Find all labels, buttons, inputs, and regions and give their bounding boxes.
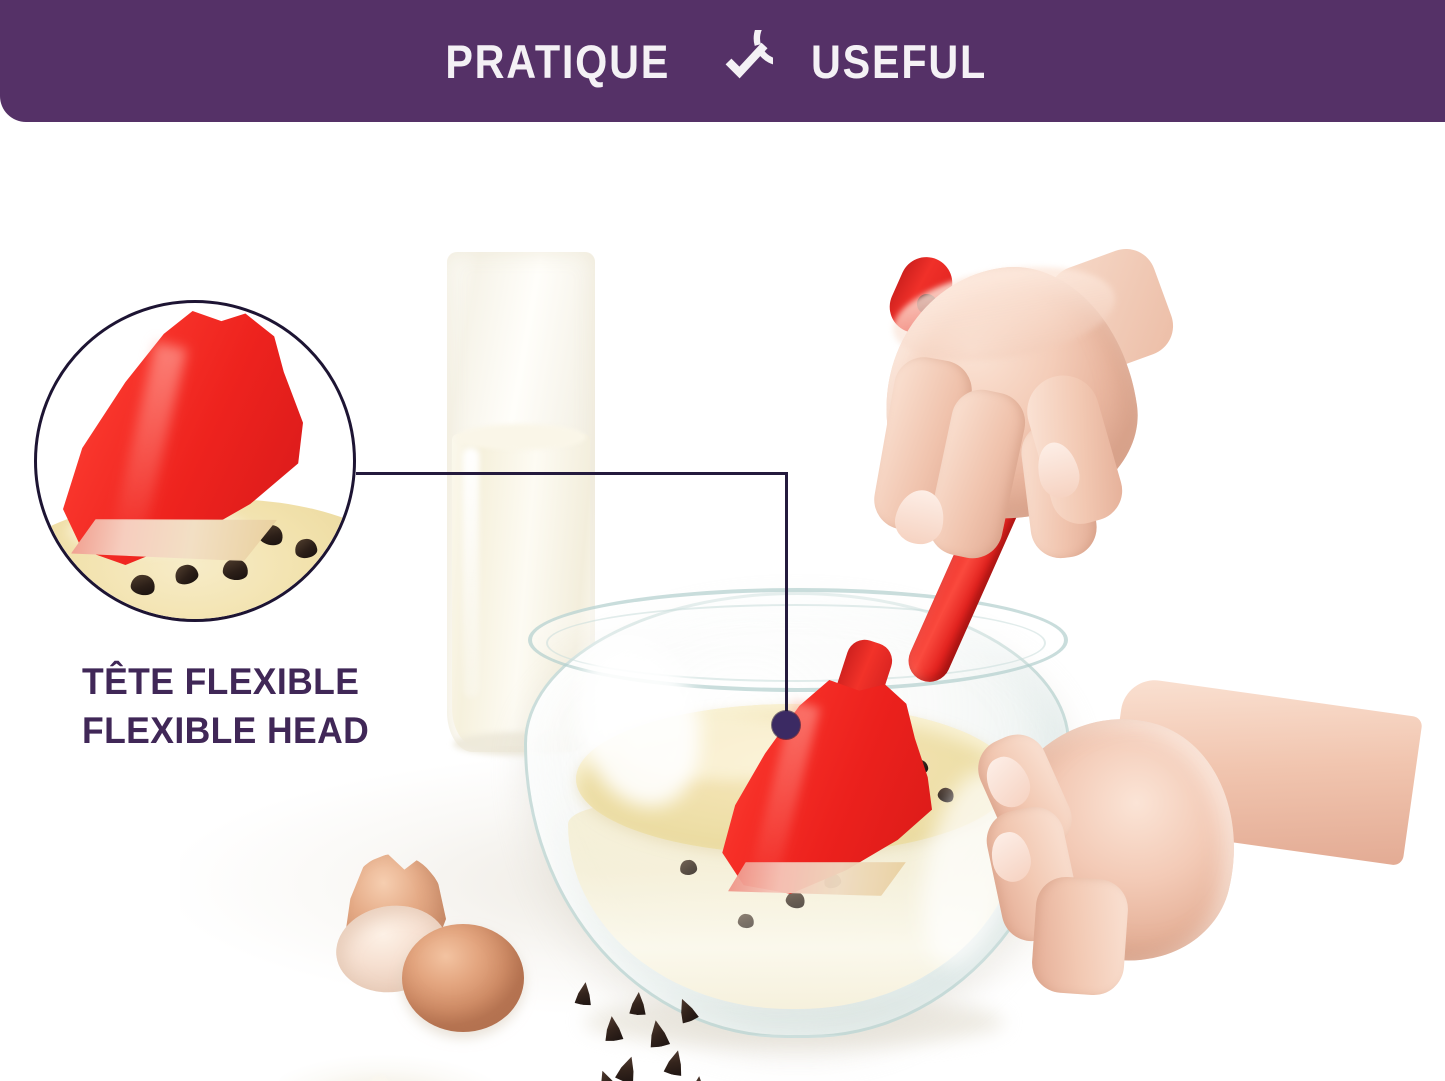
callout-anchor-dot	[772, 711, 800, 739]
callout-leader-horizontal	[356, 472, 788, 475]
callout-leader-vertical	[785, 472, 788, 724]
check-circle-icon	[711, 30, 773, 92]
feature-label-block: TÊTE FLEXIBLE FLEXIBLE HEAD	[82, 658, 502, 756]
header-banner-content: PRATIQUE USEFUL	[430, 30, 999, 92]
flour-pile-texture	[300, 1060, 490, 1081]
milk-surface	[456, 424, 586, 450]
magnified-detail-circle	[34, 300, 356, 622]
hand-holding-spatula	[878, 262, 1148, 572]
feature-label-en: FLEXIBLE HEAD	[82, 707, 485, 756]
feature-label-fr: TÊTE FLEXIBLE	[82, 658, 485, 707]
header-banner: PRATIQUE USEFUL	[0, 0, 1445, 122]
product-photo-scene: TÊTE FLEXIBLE FLEXIBLE HEAD	[0, 122, 1445, 1081]
whole-egg	[402, 924, 524, 1032]
hand-holding-bowl	[988, 682, 1408, 1042]
banner-label-fr: PRATIQUE	[445, 38, 670, 85]
banner-label-en: USEFUL	[811, 38, 987, 85]
callout-spatula-head-batter-edge	[71, 519, 277, 561]
finger-ring-right	[1030, 875, 1130, 997]
callout-zoom-content	[37, 303, 353, 619]
callout-ring	[34, 300, 356, 622]
spatula-head-batter-edge	[728, 862, 906, 896]
product-infographic: PRATIQUE USEFUL	[0, 0, 1445, 1081]
